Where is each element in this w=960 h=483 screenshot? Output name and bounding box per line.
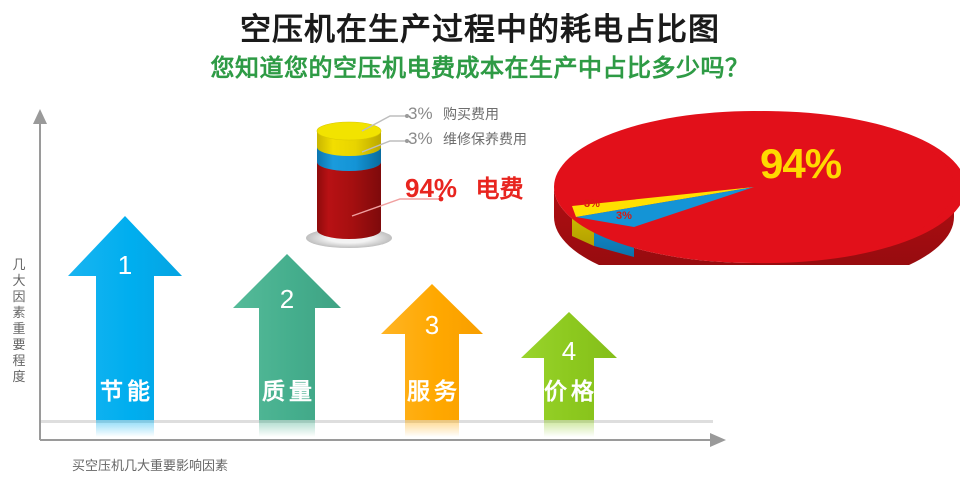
pie-main-label: 94%: [760, 140, 841, 188]
infographic-canvas: 空压机在生产过程中的耗电占比图 您知道您的空压机电费成本在生产中占比多少吗？ 几…: [0, 0, 960, 483]
callout-purchase-text: 购买费用: [443, 107, 499, 123]
callout-maintenance-percent: 3%: [408, 129, 433, 148]
callout-purchase: 3% 购买费用: [408, 104, 499, 124]
pie-sliver-label-purchase: 3%: [584, 198, 600, 210]
callout-electricity: 94% 电费: [405, 169, 524, 204]
callout-maintenance-text: 维修保养费用: [443, 132, 527, 148]
callout-electricity-text: 电费: [476, 175, 524, 203]
callout-maintenance: 3% 维修保养费用: [408, 129, 527, 149]
callout-purchase-percent: 3%: [408, 104, 433, 123]
pie-chart-3d: 3% 3%: [548, 105, 960, 270]
leader-line-purchase: [362, 116, 406, 131]
pie-sliver-label-maintenance: 3%: [616, 210, 632, 222]
leader-line-maintenance: [362, 141, 406, 152]
pie-svg: [548, 105, 960, 265]
callout-electricity-percent: 94%: [405, 173, 457, 203]
